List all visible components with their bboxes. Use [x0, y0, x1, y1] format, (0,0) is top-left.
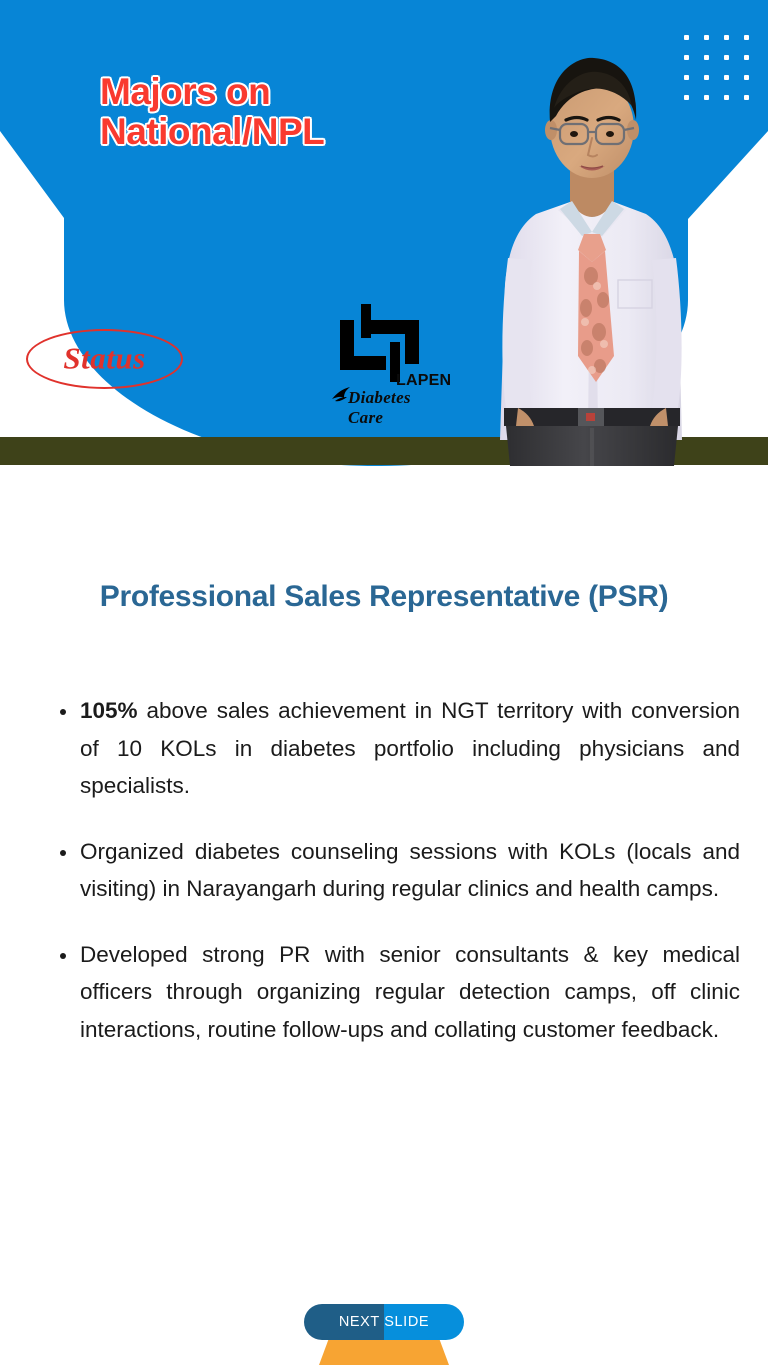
grid-dot: [744, 95, 749, 100]
grid-dot: [704, 35, 709, 40]
status-logo: Status: [26, 329, 183, 389]
grid-dot: [704, 95, 709, 100]
grid-dot: [684, 35, 689, 40]
lapen-logo: LAPEN Diabetes Care: [330, 302, 442, 412]
bullet-text-1: above sales achievement in NGT territory…: [80, 698, 740, 798]
grid-dot: [744, 75, 749, 80]
grid-dot: [744, 35, 749, 40]
grid-dot: [724, 95, 729, 100]
grid-dot: [724, 75, 729, 80]
page-title: Majors on National/NPL: [100, 72, 324, 152]
presentation-slide: Majors on National/NPL Status LAPEN Diab…: [0, 0, 768, 1365]
list-item: Organized diabetes counseling sessions w…: [50, 833, 740, 908]
slide-body: Professional Sales Representative (PSR) …: [0, 470, 768, 1365]
grid-dot: [704, 75, 709, 80]
list-item: Developed strong PR with senior consulta…: [50, 936, 740, 1049]
bullet-lead-1: 105%: [80, 698, 138, 723]
grid-dot: [724, 55, 729, 60]
section-heading: Professional Sales Representative (PSR): [0, 580, 768, 614]
grid-dot: [684, 55, 689, 60]
slide-header: Majors on National/NPL Status LAPEN Diab…: [0, 0, 768, 470]
next-slide-area: NEXT SLIDE: [0, 1275, 768, 1365]
bullet-text-3: Developed strong PR with senior consulta…: [80, 942, 740, 1042]
list-item: 105% above sales achievement in NGT terr…: [50, 692, 740, 805]
lapen-logo-tagline: Diabetes Care: [348, 388, 442, 428]
grid-dot: [744, 55, 749, 60]
bullet-text-2: Organized diabetes counseling sessions w…: [80, 839, 740, 902]
grid-dot: [704, 55, 709, 60]
status-logo-text: Status: [26, 340, 183, 376]
next-slide-button[interactable]: NEXT SLIDE: [304, 1304, 464, 1340]
grid-dot: [724, 35, 729, 40]
bullet-list: 105% above sales achievement in NGT terr…: [50, 692, 740, 1049]
grid-dot: [684, 95, 689, 100]
dot-grid-decoration: [676, 27, 756, 107]
grid-dot: [684, 75, 689, 80]
